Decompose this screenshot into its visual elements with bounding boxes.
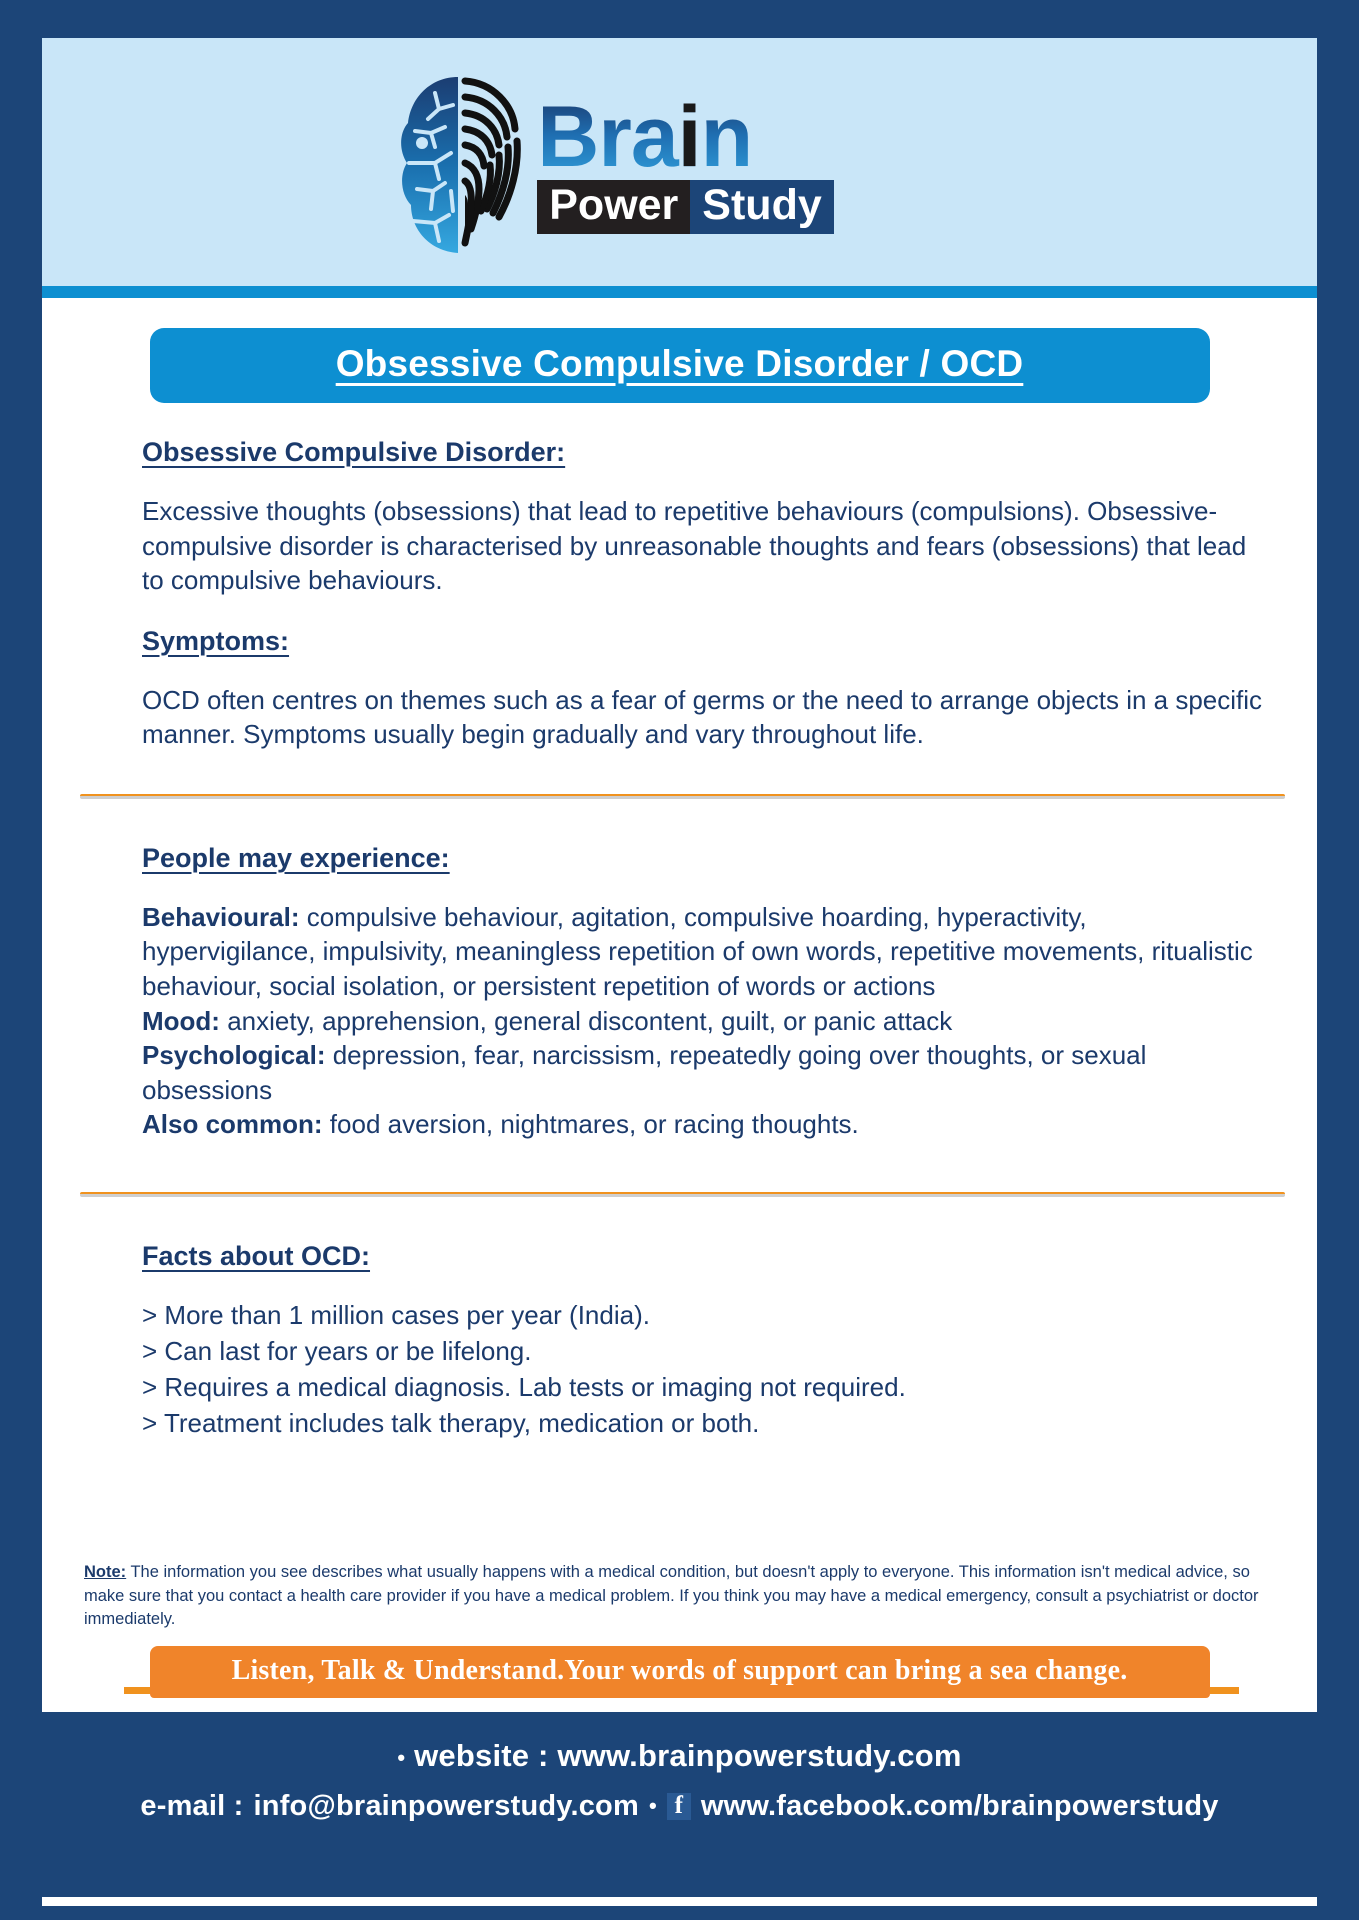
section-heading-experience: People may experience:	[142, 843, 450, 874]
fact-line: > More than 1 million cases per year (In…	[142, 1298, 1265, 1334]
footer: • website : www.brainpowerstudy.com e-ma…	[42, 1712, 1317, 1823]
footer-website-row: • website : www.brainpowerstudy.com	[42, 1738, 1317, 1774]
experience-label: Behavioural:	[142, 902, 300, 932]
brand-wordmark: Brain	[537, 96, 752, 179]
note-label: Note:	[84, 1563, 126, 1581]
brand-study-label: Study	[690, 180, 833, 234]
section-body-disorder: Excessive thoughts (obsessions) that lea…	[142, 494, 1265, 598]
facts-section: Facts about OCD: > More than 1 million c…	[42, 1241, 1317, 1442]
content-sheet: Obsessive Compulsive Disorder / OCD Obse…	[42, 298, 1317, 1712]
footer-facebook-url[interactable]: www.facebook.com/brainpowerstudy	[701, 1790, 1219, 1823]
facebook-icon[interactable]: f	[667, 1793, 691, 1820]
experience-text: compulsive behaviour, agitation, compuls…	[142, 902, 1253, 1001]
fact-line: > Requires a medical diagnosis. Lab test…	[142, 1370, 1265, 1406]
experience-item: Psychological: depression, fear, narciss…	[142, 1038, 1265, 1107]
fact-line: > Treatment includes talk therapy, medic…	[142, 1406, 1265, 1442]
experience-item: Mood: anxiety, apprehension, general dis…	[142, 1004, 1265, 1039]
note-text: The information you see describes what u…	[84, 1563, 1259, 1628]
footer-email-address[interactable]: info@brainpowerstudy.com	[254, 1790, 639, 1823]
footer-website-label: website :	[414, 1738, 548, 1773]
slogan-banner: Listen, Talk & Understand.Your words of …	[150, 1646, 1210, 1698]
disclaimer-note: Note: The information you see describes …	[42, 1561, 1317, 1631]
bullet-icon: •	[397, 1745, 405, 1770]
bullet-icon: •	[649, 1793, 657, 1819]
slogan-text: Listen, Talk & Understand.Your words of …	[232, 1655, 1128, 1686]
fact-line: > Can last for years or be lifelong.	[142, 1334, 1265, 1370]
brand-logo: Brain Power Study	[395, 71, 834, 259]
footer-email-label: e-mail :	[140, 1790, 243, 1823]
page-title-text: Obsessive Compulsive Disorder / OCD	[336, 343, 1024, 384]
body-content: Obsessive Compulsive Disorder: Excessive…	[42, 437, 1317, 752]
poster-root: Brain Power Study Obsessive Compulsive D…	[0, 0, 1359, 1920]
experience-item: Behavioural: compulsive behaviour, agita…	[142, 900, 1265, 1004]
experience-label: Also common:	[142, 1109, 323, 1139]
section-heading-disorder: Obsessive Compulsive Disorder:	[142, 437, 565, 468]
experience-text: food aversion, nightmares, or racing tho…	[323, 1109, 859, 1139]
page-title: Obsessive Compulsive Disorder / OCD	[150, 328, 1210, 403]
footer-website-url[interactable]: www.brainpowerstudy.com	[557, 1738, 961, 1773]
experience-section: People may experience: Behavioural: comp…	[42, 843, 1317, 1142]
brain-fingerprint-icon	[395, 71, 527, 259]
section-heading-facts: Facts about OCD:	[142, 1241, 370, 1272]
experience-item: Also common: food aversion, nightmares, …	[142, 1107, 1265, 1142]
header-band: Brain Power Study	[42, 38, 1317, 286]
experience-label: Psychological:	[142, 1040, 326, 1070]
slogan-banner-wrap: Listen, Talk & Understand.Your words of …	[42, 1632, 1317, 1698]
section-heading-symptoms: Symptoms:	[142, 626, 289, 657]
experience-label: Mood:	[142, 1006, 220, 1036]
footer-bottom-rule	[42, 1897, 1317, 1906]
footer-contact-row: e-mail : info@brainpowerstudy.com • f ww…	[42, 1790, 1317, 1823]
section-body-symptoms: OCD often centres on themes such as a fe…	[142, 683, 1265, 752]
header-accent-bar	[42, 286, 1317, 298]
brand-power-label: Power	[537, 180, 690, 234]
experience-text: anxiety, apprehension, general disconten…	[220, 1006, 952, 1036]
